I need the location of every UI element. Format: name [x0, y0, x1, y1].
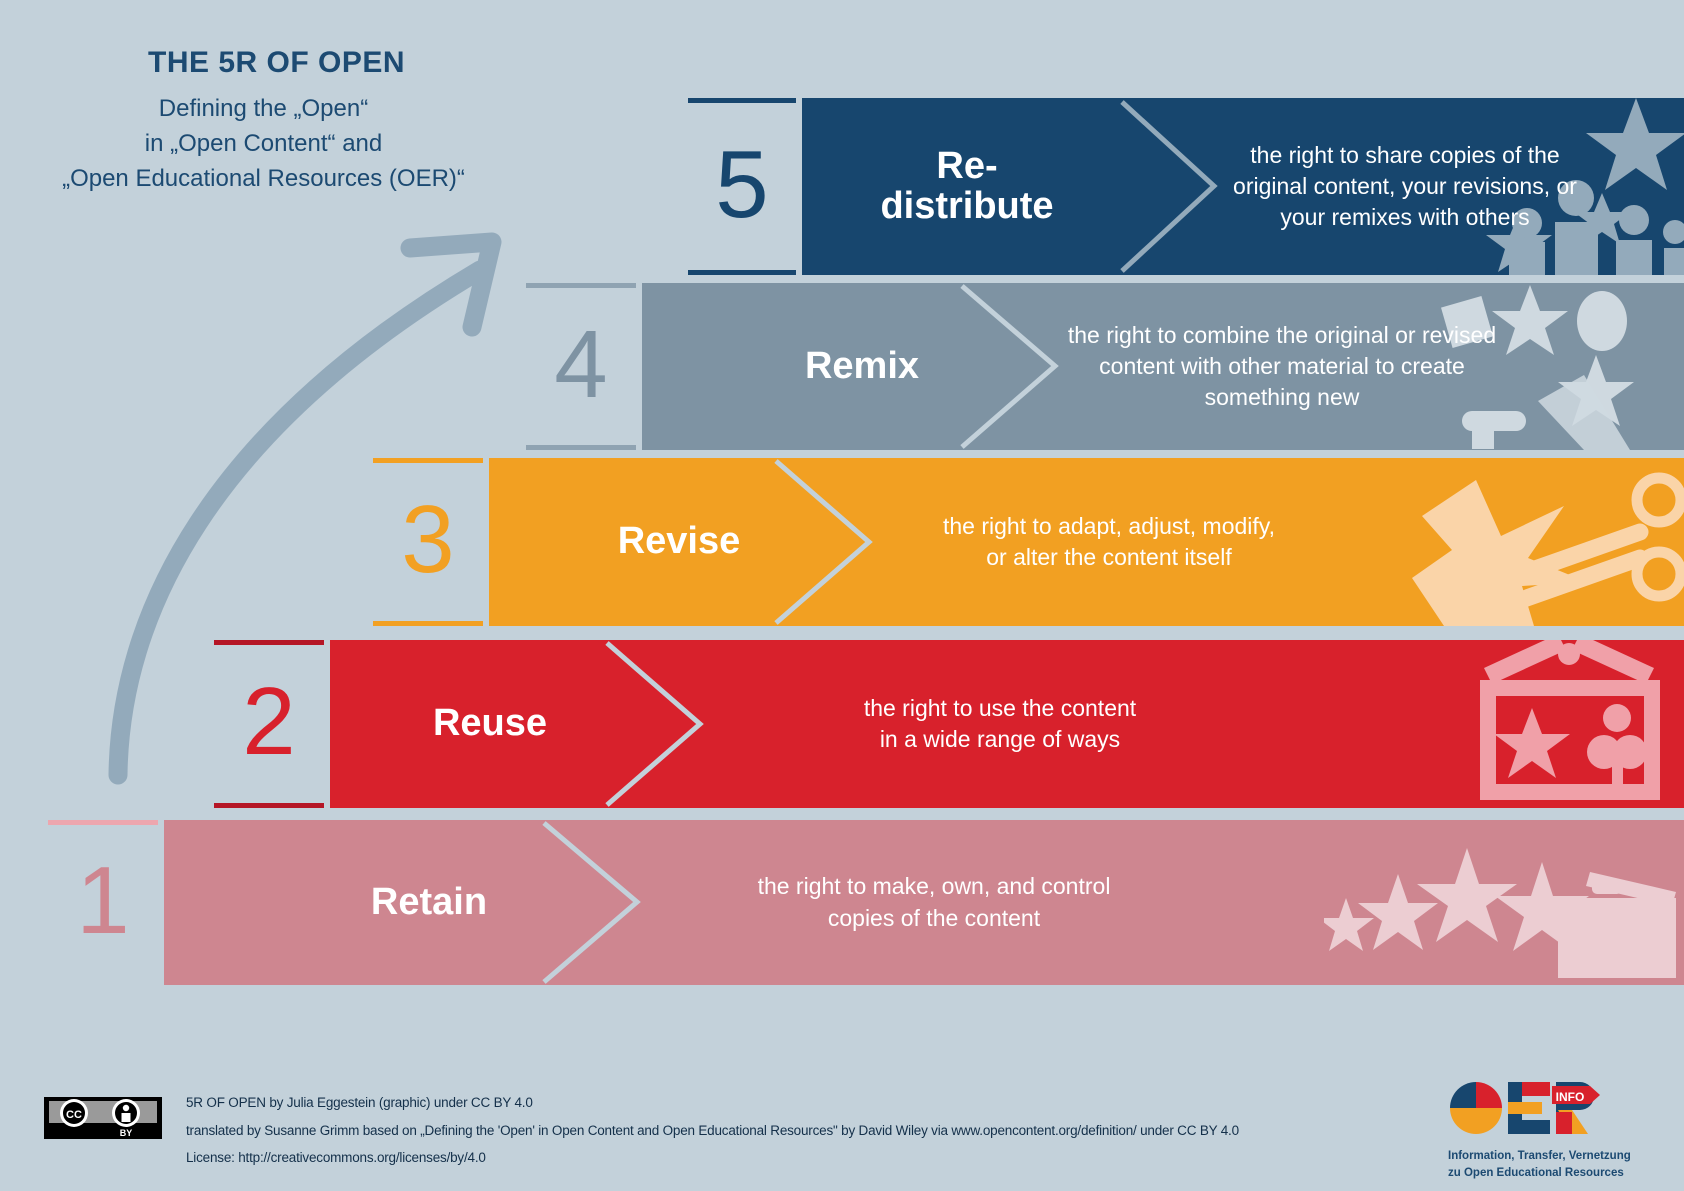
- row-number-1: 1: [76, 853, 129, 949]
- footer-credits: 5R OF OPEN by Julia Eggestein (graphic) …: [186, 1089, 1239, 1172]
- number-rule-top-4: [526, 283, 636, 288]
- row-desc-1: the right to make, own, and control copi…: [634, 820, 1234, 985]
- row-desc-2: the right to use the content in a wide r…: [700, 640, 1300, 808]
- row-revise: 3 Revise the right to adapt, adj: [367, 458, 1684, 626]
- page-title: THE 5R OF OPEN: [148, 46, 405, 80]
- row-desc-2-line1: the right to use the content: [864, 693, 1136, 724]
- number-rule-top-2: [214, 640, 324, 645]
- oer-tagline-line-2: zu Open Educational Resources: [1448, 1165, 1678, 1182]
- row-desc-5-line3: your remixes with others: [1233, 202, 1577, 233]
- row-desc-1-line1: the right to make, own, and control: [758, 871, 1111, 902]
- stars-and-folder-icon: [1324, 820, 1684, 985]
- oer-info-badge-text: INFO: [1556, 1090, 1585, 1104]
- footer-line-1: 5R OF OPEN by Julia Eggestein (graphic) …: [186, 1089, 1239, 1117]
- svg-text:BY: BY: [120, 1128, 133, 1138]
- row-bar-5: Re- distribute the right to share copies…: [802, 98, 1684, 275]
- scissors-and-star-icon: [1404, 458, 1684, 626]
- subtitle-line-3: „Open Educational Resources (OER)“: [0, 162, 527, 197]
- row-number-5: 5: [715, 137, 768, 233]
- row-desc-5: the right to share copies of the origina…: [1190, 98, 1620, 275]
- oer-logo-tagline: Information, Transfer, Vernetzung zu Ope…: [1448, 1148, 1678, 1181]
- subtitle-line-1: Defining the „Open“: [0, 92, 527, 127]
- row-desc-4-line2: content with other material to create: [1068, 351, 1496, 382]
- row-desc-1-line2: copies of the content: [758, 903, 1111, 934]
- number-rule-bottom-3: [373, 621, 483, 626]
- number-rule-top-1: [48, 820, 158, 825]
- row-desc-5-line2: original content, your revisions, or: [1233, 171, 1577, 202]
- row-desc-3-line2: or alter the content itself: [943, 542, 1275, 573]
- row-number-4: 4: [554, 317, 607, 413]
- number-rule-top-5: [688, 98, 796, 103]
- row-desc-4: the right to combine the original or rev…: [1022, 283, 1542, 450]
- row-desc-3: the right to adapt, adjust, modify, or a…: [859, 458, 1359, 626]
- row-desc-5-line1: the right to share copies of the: [1233, 140, 1577, 171]
- row-number-3: 3: [401, 492, 454, 588]
- row-number-box-5: 5: [682, 98, 802, 275]
- row-desc-3-line1: the right to adapt, adjust, modify,: [943, 511, 1275, 542]
- number-rule-top-3: [373, 458, 483, 463]
- oer-info-logo[interactable]: INFO: [1448, 1078, 1608, 1146]
- row-number-box-4: 4: [520, 283, 642, 450]
- row-label-5-line1: Re-: [880, 147, 1053, 187]
- row-number-2: 2: [242, 674, 295, 770]
- row-label-2-text: Reuse: [433, 704, 547, 744]
- row-bar-1: Retain the right to make, own, and contr…: [164, 820, 1684, 985]
- row-label-1-text: Retain: [371, 883, 487, 923]
- cc-by-icon: CC BY: [44, 1097, 162, 1139]
- number-rule-bottom-5: [688, 270, 796, 275]
- row-label-3-text: Revise: [618, 522, 741, 562]
- infographic-canvas: THE 5R OF OPEN Defining the „Open“ in „O…: [0, 0, 1684, 1191]
- row-remix: 4 Remix the right to: [520, 283, 1684, 450]
- svg-text:CC: CC: [66, 1109, 82, 1121]
- oer-tagline-line-1: Information, Transfer, Vernetzung: [1448, 1148, 1678, 1165]
- row-desc-4-line3: something new: [1068, 382, 1496, 413]
- number-rule-bottom-2: [214, 803, 324, 808]
- row-bar-4: Remix the right to combine the original …: [642, 283, 1684, 450]
- subtitle-line-2: in „Open Content“ and: [0, 127, 527, 162]
- row-desc-4-line1: the right to combine the original or rev…: [1068, 320, 1496, 351]
- number-rule-bottom-4: [526, 445, 636, 450]
- row-bar-2: Reuse the right to use the content in a …: [330, 640, 1684, 808]
- row-label-4-text: Remix: [805, 347, 919, 387]
- row-redistribute: 5 Re-: [682, 98, 1684, 275]
- row-number-box-3: 3: [367, 458, 489, 626]
- page-subtitle: Defining the „Open“ in „Open Content“ an…: [0, 92, 527, 196]
- row-retain: 1 Retain t: [42, 820, 1684, 985]
- row-desc-2-line2: in a wide range of ways: [864, 724, 1136, 755]
- picture-frame-icon: [1454, 640, 1684, 808]
- row-label-5: Re- distribute: [802, 98, 1132, 275]
- footer-line-2: translated by Susanne Grimm based on „De…: [186, 1117, 1239, 1145]
- row-bar-3: Revise the right to adapt, adjust, modif…: [489, 458, 1684, 626]
- cc-by-license-badge[interactable]: CC BY: [44, 1097, 162, 1139]
- footer-line-3: License: http://creativecommons.org/lice…: [186, 1144, 1239, 1172]
- row-label-5-line2: distribute: [880, 187, 1053, 227]
- row-number-box-2: 2: [208, 640, 330, 808]
- row-reuse: 2 Reuse: [208, 640, 1684, 808]
- row-number-box-1: 1: [42, 820, 164, 985]
